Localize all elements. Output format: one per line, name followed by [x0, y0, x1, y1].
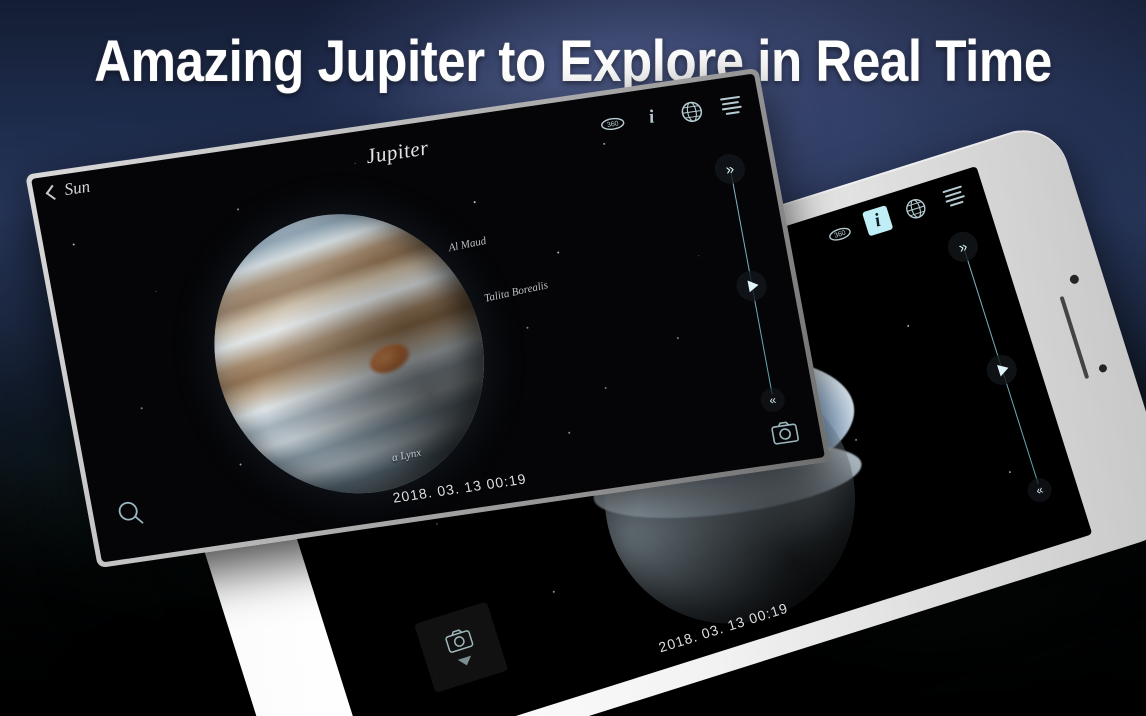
play-icon [747, 279, 759, 292]
jupiter-limb-shadow [177, 182, 521, 525]
camera-icon [770, 420, 800, 445]
360-view-icon[interactable]: 360 [597, 109, 626, 137]
360-view-icon[interactable]: 360 [824, 217, 855, 248]
fast-forward-button[interactable]: » [944, 228, 982, 266]
star-label: Al Maud [447, 235, 487, 254]
rewind-button[interactable]: « [1025, 475, 1055, 505]
play-icon [997, 362, 1010, 376]
info-icon[interactable]: i [862, 205, 893, 236]
camera-icon [443, 626, 474, 654]
promo-banner: Amazing Jupiter to Explore in Real Time … [0, 0, 1146, 716]
capture-button[interactable] [770, 420, 801, 450]
menu-icon[interactable] [938, 181, 969, 212]
jupiter-planet[interactable] [177, 182, 521, 525]
star-label: Talita Borealis [483, 279, 549, 304]
tablet-toolbar: 360 i [597, 92, 745, 138]
globe-icon[interactable] [677, 97, 706, 125]
menu-icon[interactable] [716, 92, 745, 120]
play-button[interactable] [734, 269, 769, 303]
info-icon[interactable]: i [637, 103, 666, 131]
globe-icon[interactable] [900, 193, 931, 224]
chevron-down-icon[interactable] [458, 655, 474, 667]
rewind-button[interactable]: « [759, 386, 787, 413]
page-title: Amazing Jupiter to Explore in Real Time [69, 28, 1077, 95]
fast-forward-button[interactable]: » [712, 152, 747, 186]
play-button[interactable] [983, 351, 1021, 389]
phone-capture-panel[interactable] [414, 601, 508, 693]
